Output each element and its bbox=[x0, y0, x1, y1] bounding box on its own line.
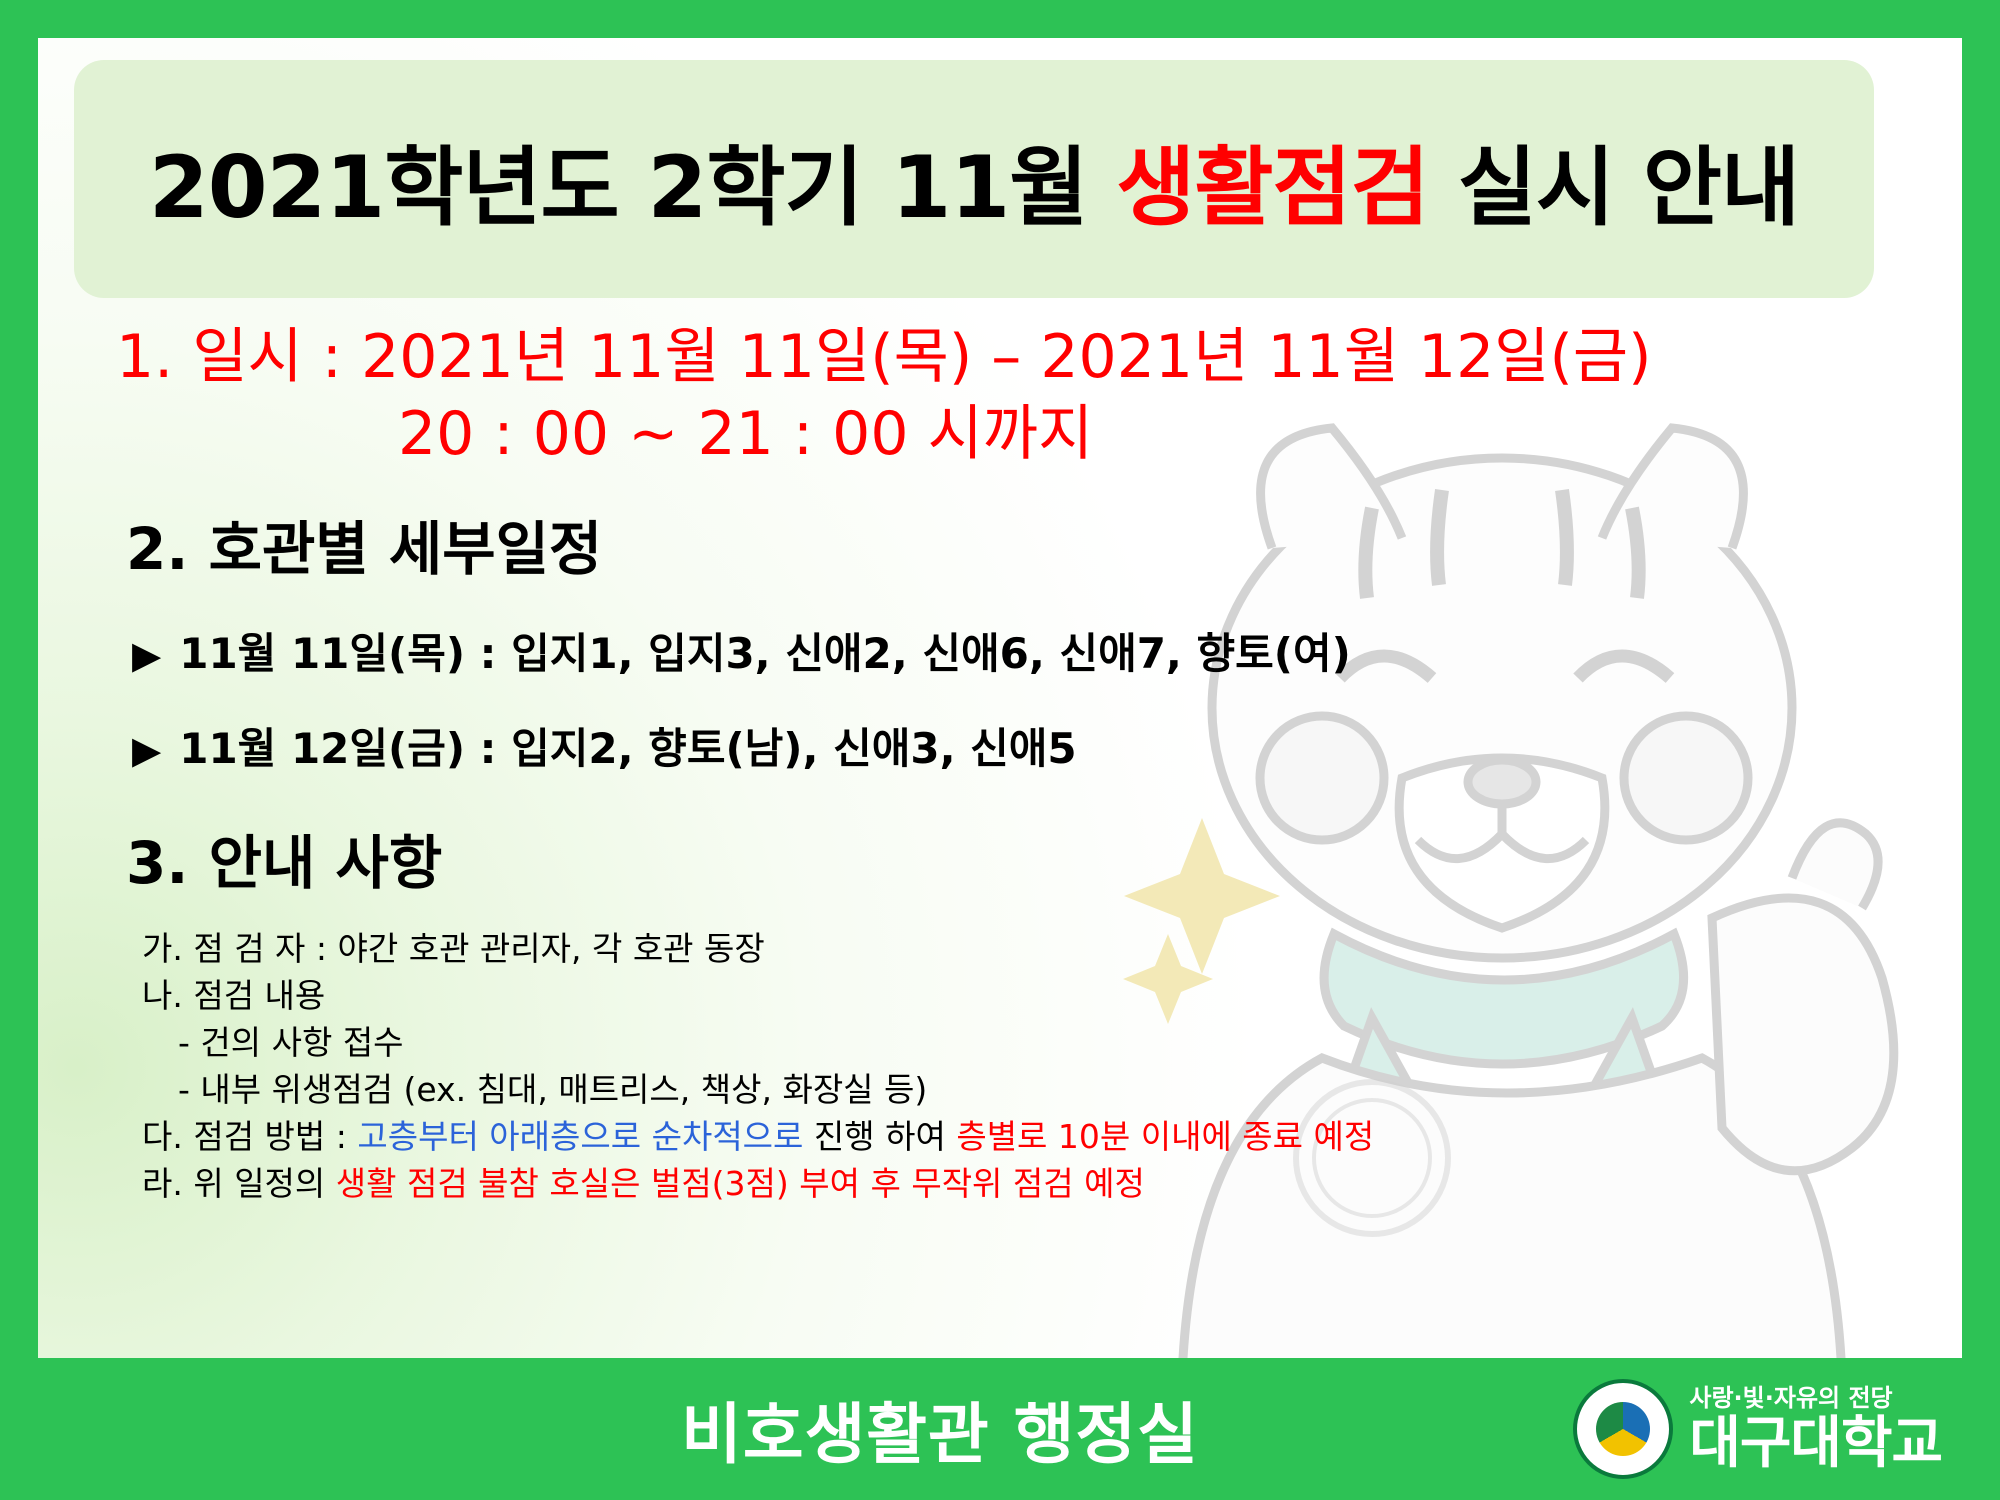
section3-list: 가. 점 검 자 : 야간 호관 관리자, 각 호관 동장 나. 점검 내용 -… bbox=[142, 926, 1962, 1207]
section3-item-d-prefix: 라. 위 일정의 bbox=[142, 1164, 336, 1203]
page-title: 2021학년도 2학기 11월 생활점검 실시 안내 bbox=[149, 117, 1799, 242]
footer-office-name: 비호생활관 행정실 bbox=[681, 1381, 1199, 1477]
poster-root: 2021학년도 2학기 11월 생활점검 실시 안내 1. 일시 : 2021년… bbox=[0, 0, 2000, 1500]
seal-inner-emblem bbox=[1596, 1402, 1650, 1456]
university-seal-icon bbox=[1573, 1379, 1673, 1479]
section3-item-c-red: 층별로 10분 이내에 종료 예정 bbox=[956, 1117, 1374, 1156]
section3-item-b1: - 건의 사항 접수 bbox=[142, 1020, 1962, 1067]
section2-item-1-label: 11월 11일(목) : 입지1, 입지3, 신애2, 신애6, 신애7, 향토… bbox=[179, 629, 1351, 678]
section1-line2: 20 : 00 ~ 21 : 00 시까지 bbox=[398, 401, 1962, 468]
section2-item-1: ▶11월 11일(목) : 입지1, 입지3, 신애2, 신애6, 신애7, 향… bbox=[132, 620, 1962, 681]
section3-item-d: 라. 위 일정의 생활 점검 불참 호실은 벌점(3점) 부여 후 무작위 점검… bbox=[142, 1161, 1962, 1208]
triangle-bullet-icon: ▶ bbox=[132, 633, 161, 677]
section3-item-c-prefix: 다. 점검 방법 : bbox=[142, 1117, 357, 1156]
section3-item-a: 가. 점 검 자 : 야간 호관 관리자, 각 호관 동장 bbox=[142, 926, 1962, 973]
title-band: 2021학년도 2학기 11월 생활점검 실시 안내 bbox=[74, 60, 1874, 298]
section3-item-b2: - 내부 위생점검 (ex. 침대, 매트리스, 책상, 화장실 등) bbox=[142, 1067, 1962, 1114]
section3-heading: 3. 안내 사항 bbox=[126, 816, 1962, 900]
section3-item-c-blue: 고층부터 아래층으로 순차적으로 bbox=[357, 1117, 803, 1156]
poster-content: 1. 일시 : 2021년 11월 11일(목) – 2021년 11월 12일… bbox=[38, 324, 1962, 1208]
section3-item-b: 나. 점검 내용 bbox=[142, 973, 1962, 1020]
poster-card: 2021학년도 2학기 11월 생활점검 실시 안내 1. 일시 : 2021년… bbox=[38, 38, 1962, 1358]
section2-item-2: ▶11월 12일(금) : 입지2, 향토(남), 신애3, 신애5 bbox=[132, 715, 1962, 776]
brand-slogan: 사랑·빛·자유의 전당 bbox=[1689, 1386, 1942, 1410]
section1-line1: 1. 일시 : 2021년 11월 11일(목) – 2021년 11월 12일… bbox=[116, 324, 1962, 391]
title-suffix: 실시 안내 bbox=[1429, 138, 1799, 238]
poster-footer: 비호생활관 행정실 사랑·빛·자유의 전당 대구대학교 bbox=[0, 1358, 2000, 1500]
triangle-bullet-icon: ▶ bbox=[132, 728, 161, 772]
section3-item-c: 다. 점검 방법 : 고층부터 아래층으로 순차적으로 진행 하여 층별로 10… bbox=[142, 1114, 1962, 1161]
section2-heading: 2. 호관별 세부일정 bbox=[126, 502, 1962, 586]
title-prefix: 2021학년도 2학기 11월 bbox=[149, 138, 1116, 238]
brand-name: 대구대학교 bbox=[1689, 1416, 1942, 1472]
section3-item-c-mid: 진행 하여 bbox=[803, 1117, 956, 1156]
section2-item-2-label: 11월 12일(금) : 입지2, 향토(남), 신애3, 신애5 bbox=[179, 724, 1076, 773]
brand-words: 사랑·빛·자유의 전당 대구대학교 bbox=[1689, 1386, 1942, 1472]
section3-item-d-red: 생활 점검 불참 호실은 벌점(3점) 부여 후 무작위 점검 예정 bbox=[336, 1164, 1145, 1203]
title-highlight: 생활점검 bbox=[1116, 138, 1428, 238]
university-brand: 사랑·빛·자유의 전당 대구대학교 bbox=[1573, 1379, 1942, 1479]
